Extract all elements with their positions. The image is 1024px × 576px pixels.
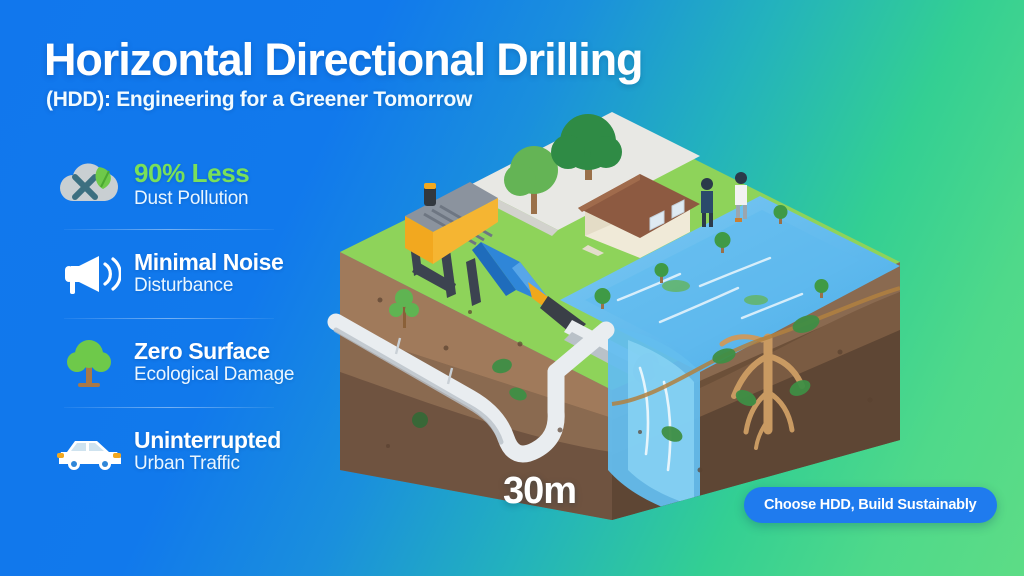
infographic-canvas: Horizontal Directional Drilling (HDD): E… — [0, 0, 1024, 576]
list-divider — [64, 229, 274, 230]
benefit-headline: Zero Surface — [134, 339, 294, 365]
benefits-list: 90% Less Dust Pollution Minimal Noise — [46, 150, 376, 487]
benefit-item-ecology[interactable]: Zero Surface Ecological Damage — [46, 328, 376, 398]
megaphone-icon — [46, 244, 132, 304]
list-divider — [64, 407, 274, 408]
benefit-headline: 90% Less — [134, 159, 249, 188]
benefit-detail: Disturbance — [134, 275, 283, 298]
benefit-item-noise[interactable]: Minimal Noise Disturbance — [46, 239, 376, 309]
benefit-item-traffic[interactable]: Uninterrupted Urban Traffic — [46, 417, 376, 487]
dust-cloud-leaf-icon — [46, 155, 132, 215]
benefit-detail: Ecological Damage — [134, 364, 294, 387]
depth-label: 30m — [503, 470, 576, 513]
benefit-item-dust[interactable]: 90% Less Dust Pollution — [46, 150, 376, 220]
benefit-detail: Urban Traffic — [134, 453, 281, 476]
page-title: Horizontal Directional Drilling — [44, 36, 642, 83]
benefit-headline: Uninterrupted — [134, 428, 281, 454]
cta-badge[interactable]: Choose HDD, Build Sustainably — [744, 487, 997, 523]
benefit-detail: Dust Pollution — [134, 188, 249, 211]
page-subtitle: (HDD): Engineering for a Greener Tomorro… — [46, 88, 472, 112]
tree-icon — [46, 333, 132, 393]
list-divider — [64, 318, 274, 319]
car-icon — [46, 422, 132, 482]
benefit-headline: Minimal Noise — [134, 250, 283, 276]
